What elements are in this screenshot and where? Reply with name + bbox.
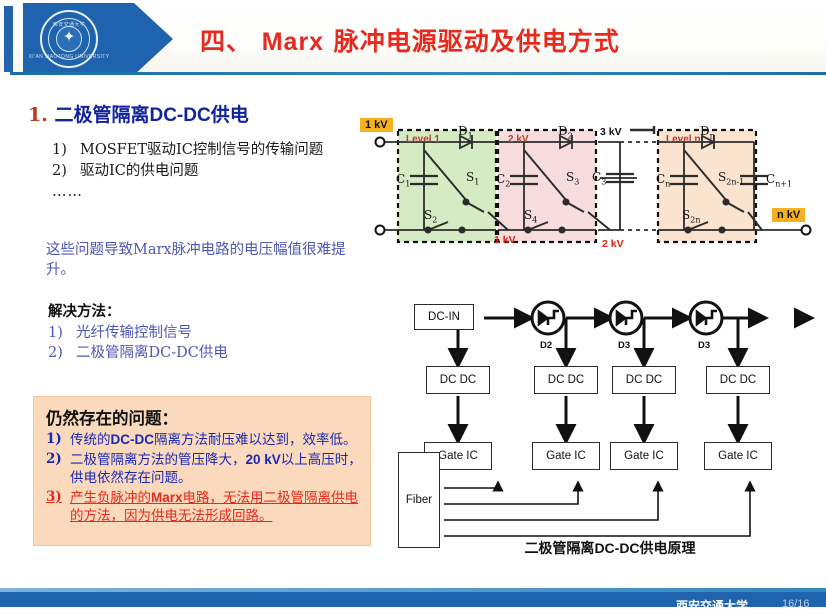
block-diagram: DC-IN D2 D3 D3 DC DC DC DC DC DC DC DC G… [398,292,822,562]
problem-text-segment: 产生负脉冲的 [70,490,151,506]
problem-item: 2)二极管隔离方法的管压降大，20 kV以上高压时，供电依然存在问题。 [46,451,362,488]
switch-s2n1-label: S2n-1 [718,170,744,186]
list-marker: 2) [48,343,76,364]
solution-heading: 解决方法： [48,302,368,323]
level-n-label: Level n [666,134,700,145]
section-title-cn2: 供电 [211,104,249,126]
list-item: 2) 驱动IC的供电问题 [52,161,364,181]
marx-circuit-diagram: 1 kV n kV Level 1 2 kV Level n 1 kV 2 kV… [362,112,824,260]
level-1-fill [398,130,496,242]
list-text: MOSFET驱动IC控制信号的传输问题 [80,140,364,160]
header-divider-rule [10,72,826,75]
diode-label-d2: D2 [540,340,552,351]
capacitor-cn-label: Cn [656,172,670,188]
solution-block: 解决方法： 1) 光纤传输控制信号 2) 二极管隔离DC-DC供电 [48,302,368,364]
section-title-latin: DC-DC [149,105,210,126]
switch-s4-label: S4 [524,208,537,224]
problem-item: 1)传统的DC-DC隔离方法耐压难以达到，效率低。 [46,431,362,450]
problem-text-emphasis: DC-DC [111,432,155,447]
seal-bottom-text: XI'AN JIAOTONG UNIVERSITY [29,54,110,60]
footer-university: 西安交通大学 [676,597,748,614]
remaining-problems-box: 仍然存在的问题： 1)传统的DC-DC隔离方法耐压难以达到，效率低。2)二极管隔… [33,396,371,546]
list-item: 2) 二极管隔离DC-DC供电 [48,343,368,364]
title-rest: 脉冲电源驱动及供电方式 [324,27,620,56]
seal-outer-ring: 西安交通大学 ✦ XI'AN JIAOTONG UNIVERSITY [40,10,98,68]
diode-d1-label: D1 [458,124,473,140]
gate-ic-block: Gate IC [532,442,600,470]
fiber-block: Fiber [398,452,440,548]
switch-s2-label: S2 [424,208,437,224]
node-voltage-2kv-a: 2 kV [602,238,624,250]
list-marker: 1) [48,323,76,344]
caption-cn: 二极管隔离 [524,541,594,557]
list-text: 光纤传输控制信号 [76,323,192,344]
dcdc-block: DC DC [534,366,598,394]
problem-marker: 3) [46,489,70,526]
list-item: 1) 光纤传输控制信号 [48,323,368,344]
level-1-label: Level 1 [406,134,440,145]
seal-star-icon: ✦ [63,29,76,44]
xjtu-seal-logo: 西安交通大学 ✦ XI'AN JIAOTONG UNIVERSITY [40,10,98,68]
problem-text-segment: 二极管隔离方法的管压降大， [70,452,246,468]
problems-list: 1)传统的DC-DC隔离方法耐压难以达到，效率低。2)二极管隔离方法的管压降大，… [46,431,362,526]
list-marker: 2) [52,161,80,181]
capacitor-c1-label: C1 [396,172,410,188]
footer-page-number: 16/16 [782,598,810,610]
slide-root: 西安交通大学 ✦ XI'AN JIAOTONG UNIVERSITY 四、 Ma… [0,0,826,607]
caption-cn2: 供电原理 [640,541,696,557]
dcdc-block: DC DC [426,366,490,394]
gate-ic-block: Gate IC [704,442,772,470]
list-item: 1) MOSFET驱动IC控制信号的传输问题 [52,140,364,160]
problem-text: 传统的DC-DC隔离方法耐压难以达到，效率低。 [70,431,362,450]
diode-label-d3-a: D3 [618,340,630,351]
output-terminal [802,226,811,235]
title-latin: Marx [262,28,324,56]
level-2-label: 2 kV [508,134,529,145]
switch-s1-label: S1 [466,170,479,186]
problem-text: 产生负脉冲的Marx电路，无法用二极管隔离供电的方法，因为供电无法形成回路。 [70,489,362,526]
problem-marker: 2) [46,451,70,488]
problem-text-emphasis: 20 kV [246,452,281,467]
problem-item: 3)产生负脉冲的Marx电路，无法用二极管隔离供电的方法，因为供电无法形成回路。 [46,489,362,526]
input-voltage-tag: 1 kV [360,118,393,132]
capacitor-c2-label: C2 [496,172,510,188]
list-text: 二极管隔离DC-DC供电 [76,343,228,364]
question-list: 1) MOSFET驱动IC控制信号的传输问题 2) 驱动IC的供电问题 …… [52,140,364,202]
diode-label-d3-b: D3 [698,340,710,351]
list-text: 驱动IC的供电问题 [80,161,364,181]
seal-top-text: 西安交通大学 [53,21,85,28]
section-heading: 1. 二极管隔离DC-DC供电 [28,100,358,127]
problems-heading: 仍然存在的问题： [46,405,362,429]
diagram-caption: 二极管隔离DC-DC供电原理 [398,538,822,558]
conclusion-text: 这些问题导致Marx脉冲电路的电压幅值很难提升。 [46,240,366,281]
caption-latin: DC-DC [594,540,639,556]
dc-in-block: DC-IN [414,304,474,330]
problem-text-segment: 隔离方法耐压难以达到，效率低。 [154,432,357,448]
section-title-cn: 二极管隔离 [54,104,149,126]
capacitor-c3-label: C3 [592,170,606,186]
list-marker: 1) [52,140,80,160]
header-accent-bar [4,6,13,72]
gate-ic-block: Gate IC [610,442,678,470]
diode-dn-label: Dn [700,124,715,140]
section-number: 1. [28,104,48,126]
diode-d2-label: D2 [558,124,573,140]
problem-marker: 1) [46,431,70,450]
output-voltage-tag: n kV [772,208,805,222]
problem-text-emphasis: Marx [151,490,183,505]
node-voltage-1kv: 1 kV [494,234,516,246]
switch-s3-label: S3 [566,170,579,186]
switch-s2n-label: S2n [682,208,700,224]
ellipsis-text: …… [52,182,364,202]
page-title: 四、 Marx 脉冲电源驱动及供电方式 [200,22,800,62]
title-prefix: 四、 [200,27,262,56]
block-diagram-svg [398,292,822,562]
dcdc-block: DC DC [706,366,770,394]
slide-header: 西安交通大学 ✦ XI'AN JIAOTONG UNIVERSITY 四、 Ma… [0,0,826,78]
capacitor-cn1-label: Cn+1 [766,172,792,188]
node-voltage-3kv: 3 kV [600,126,622,138]
input-terminal-top [376,138,385,147]
input-terminal-bottom [376,226,385,235]
dcdc-block: DC DC [612,366,676,394]
problem-text-segment: 传统的 [70,432,111,448]
level-2-fill [498,130,596,242]
problem-text: 二极管隔离方法的管压降大，20 kV以上高压时，供电依然存在问题。 [70,451,362,488]
